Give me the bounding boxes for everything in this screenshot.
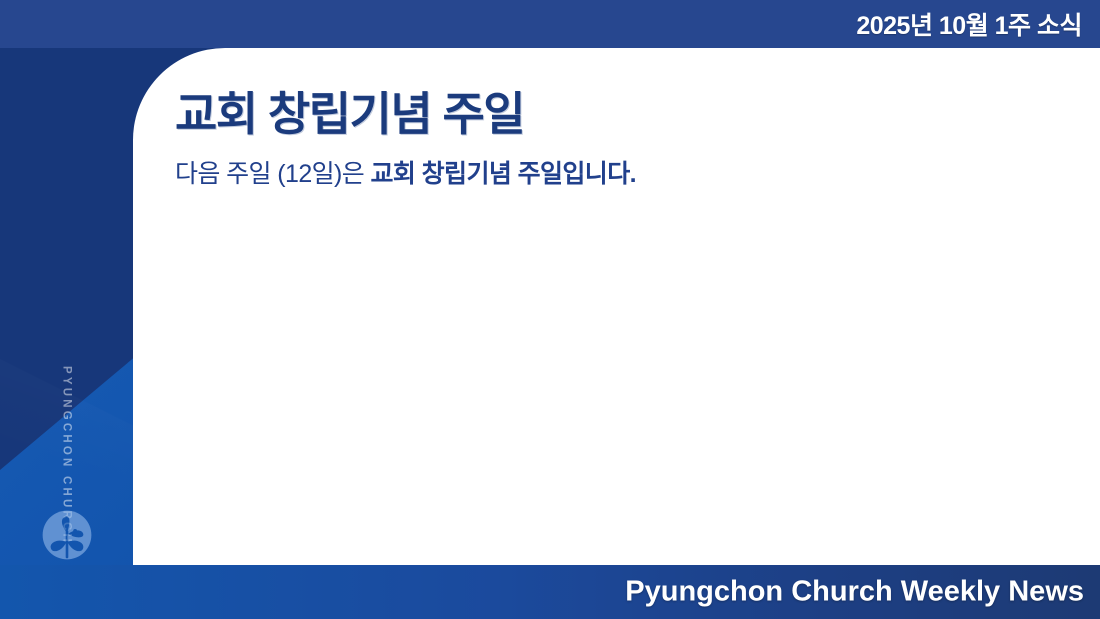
- page-title: 교회 창립기념 주일: [175, 78, 524, 144]
- footer-bar: Pyungchon Church Weekly News: [0, 565, 1100, 619]
- issue-date-label: 2025년 10월 1주 소식: [856, 6, 1082, 42]
- brand-rail: PYUNGCHON CHURCH: [0, 48, 133, 565]
- pyungchon-church-logo-icon: [38, 506, 96, 564]
- announcement-text: 다음 주일 (12일)은 교회 창립기념 주일입니다.: [175, 156, 1060, 194]
- announcement-text-plain: 다음 주일 (12일)은: [175, 160, 371, 188]
- weekly-news-slide: 2025년 10월 1주 소식 교회 창립기념 주일 다음 주일 (12일)은 …: [0, 0, 1100, 619]
- content-panel: 교회 창립기념 주일 다음 주일 (12일)은 교회 창립기념 주일입니다.: [133, 48, 1100, 565]
- footer-brand-label: Pyungchon Church Weekly News: [625, 576, 1084, 609]
- announcement-text-strong: 교회 창립기념 주일입니다.: [371, 160, 636, 188]
- top-header-bar: 2025년 10월 1주 소식: [0, 0, 1100, 48]
